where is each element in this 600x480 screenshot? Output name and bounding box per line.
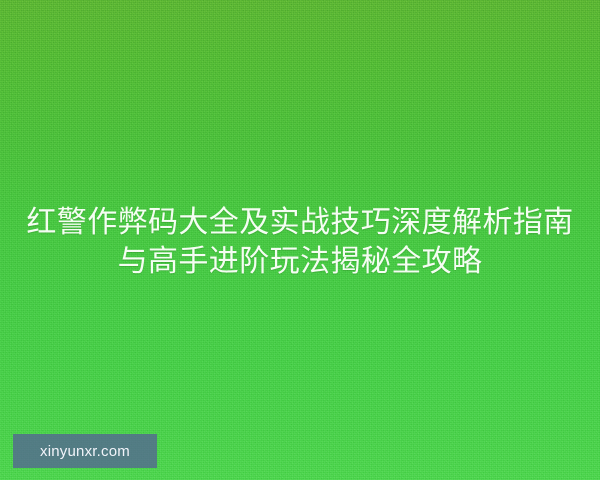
promo-banner: 红警作弊码大全及实战技巧深度解析指南 与高手进阶玩法揭秘全攻略 xinyunxr… — [0, 0, 600, 480]
watermark-domain-label: xinyunxr.com — [40, 444, 130, 459]
headline-line-2: 与高手进阶玩法揭秘全攻略 — [0, 242, 600, 281]
banner-headline: 红警作弊码大全及实战技巧深度解析指南 与高手进阶玩法揭秘全攻略 — [0, 203, 600, 281]
headline-line-1: 红警作弊码大全及实战技巧深度解析指南 — [0, 203, 600, 242]
site-watermark: xinyunxr.com — [13, 434, 157, 468]
